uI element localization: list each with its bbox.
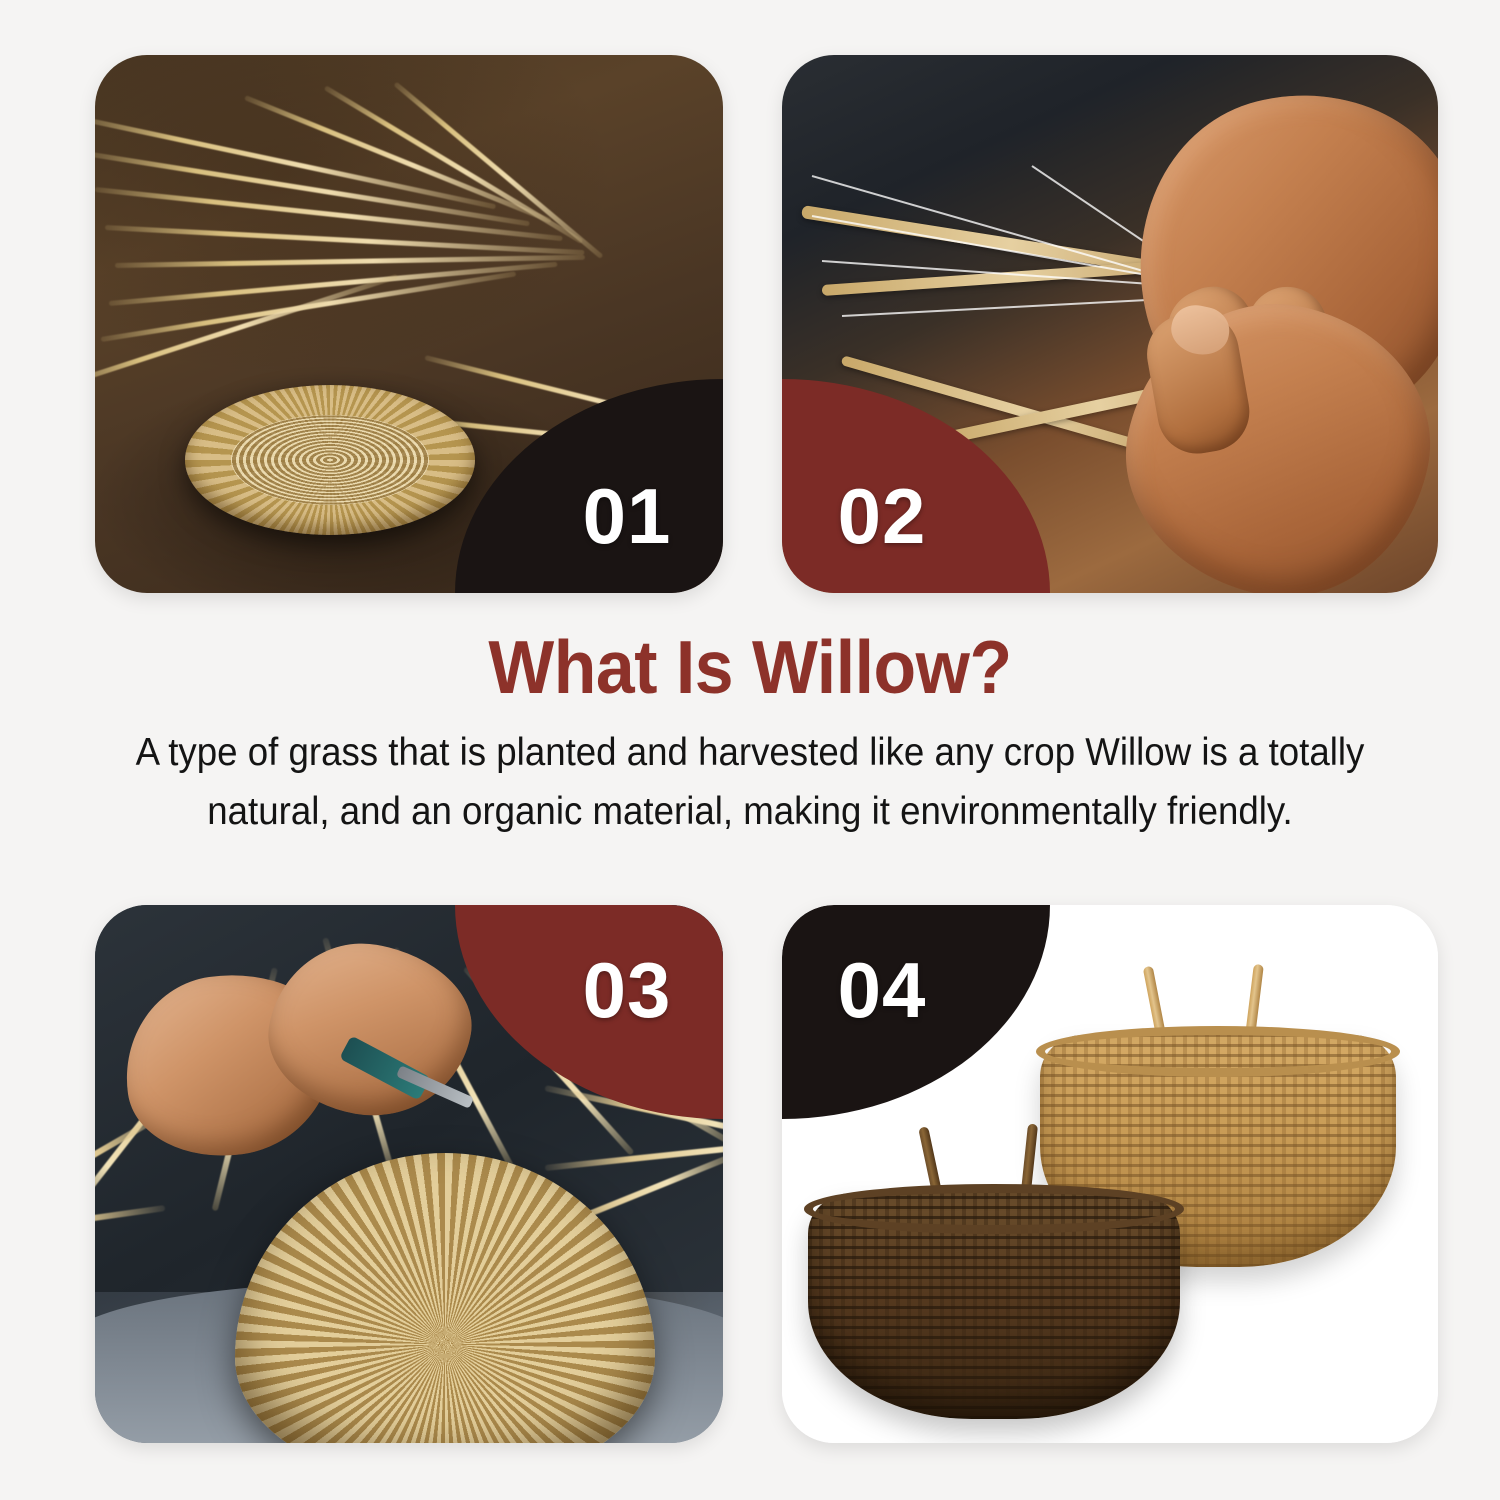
page-title: What Is Willow? bbox=[53, 628, 1448, 707]
step-number-badge-03: 03 bbox=[455, 905, 723, 1119]
photo-card-04[interactable]: 04 bbox=[782, 905, 1438, 1443]
photo-card-03[interactable]: 03 bbox=[95, 905, 723, 1443]
woven-basket-base bbox=[185, 385, 475, 535]
badge-number-text-01: 01 bbox=[583, 477, 672, 555]
intro-text-block: What Is Willow? A type of grass that is … bbox=[0, 628, 1500, 841]
badge-number-text-04: 04 bbox=[838, 951, 927, 1029]
step-number-badge-04: 04 bbox=[782, 905, 1050, 1119]
page-description: A type of grass that is planted and harv… bbox=[120, 723, 1380, 842]
badge-number-text-03: 03 bbox=[583, 951, 672, 1029]
wicker-basket-dark bbox=[808, 1193, 1180, 1419]
step-number-badge-01: 01 bbox=[455, 379, 723, 593]
basket-rim-light bbox=[1036, 1026, 1399, 1077]
badge-number-text-02: 02 bbox=[838, 477, 927, 555]
basket-rim-dark bbox=[804, 1184, 1183, 1234]
willow-infographic: 01 02 bbox=[0, 0, 1500, 1500]
photo-card-01[interactable]: 01 bbox=[95, 55, 723, 593]
step-number-badge-02: 02 bbox=[782, 379, 1050, 593]
photo-card-02[interactable]: 02 bbox=[782, 55, 1438, 593]
